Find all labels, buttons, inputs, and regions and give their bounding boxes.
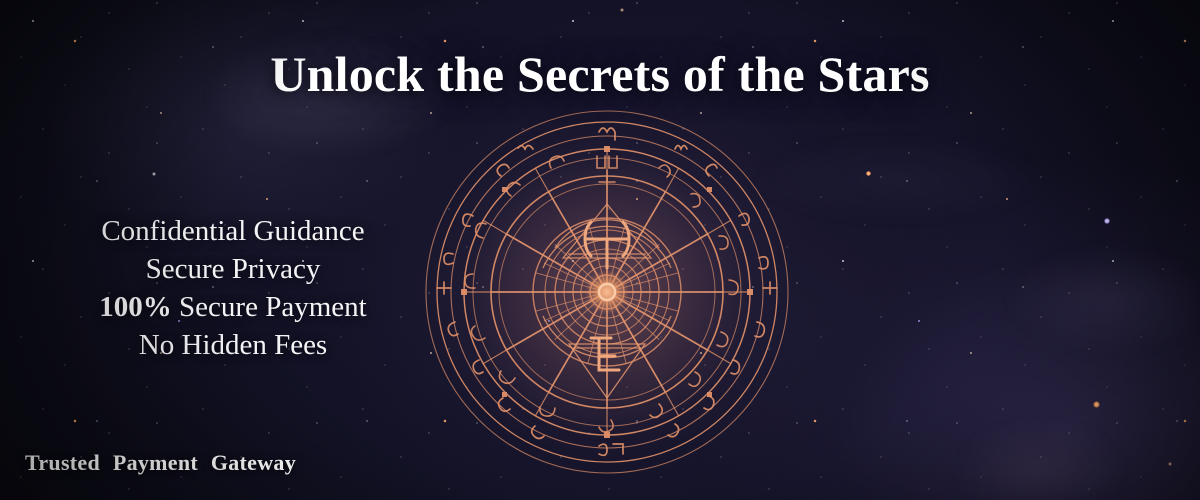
benefits-list: Confidential Guidance Secure Privacy 100…	[28, 212, 438, 364]
benefit-item-secure-payment: 100% Secure Payment	[28, 288, 438, 326]
page-title: Unlock the Secrets of the Stars	[0, 48, 1200, 101]
benefit-item-confidential-guidance: Confidential Guidance	[28, 212, 438, 250]
zodiac-wheel-icon	[423, 108, 791, 476]
benefit-item-no-hidden-fees: No Hidden Fees	[28, 326, 438, 364]
benefit-item-secure-privacy: Secure Privacy	[28, 250, 438, 288]
trusted-payment-gateway-badge: Trusted Payment Gateway	[25, 450, 296, 476]
secure-payment-label: Secure Payment	[172, 291, 367, 323]
astrology-promo-banner: Unlock the Secrets of the Stars Confiden…	[0, 0, 1200, 500]
secure-payment-percentage: 100%	[99, 291, 172, 323]
